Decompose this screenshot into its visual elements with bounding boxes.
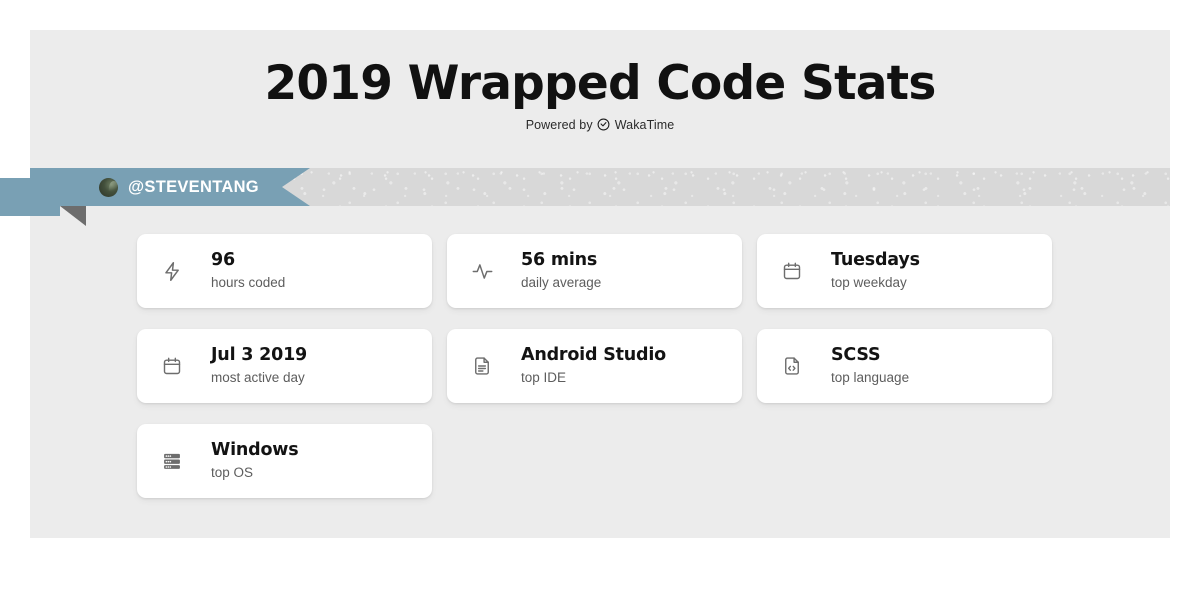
ribbon-banner: @STEVENTANG bbox=[30, 168, 310, 206]
document-lines-icon bbox=[471, 355, 493, 377]
lightning-bolt-icon bbox=[161, 260, 183, 282]
stat-value: 96 bbox=[211, 250, 285, 272]
stat-card[interactable]: SCSS top language bbox=[757, 329, 1052, 403]
stat-value: 56 mins bbox=[521, 250, 601, 272]
powered-by-line: Powered by WakaTime bbox=[30, 118, 1170, 131]
content-panel: 2019 Wrapped Code Stats Powered by WakaT… bbox=[30, 30, 1170, 538]
stat-label: top weekday bbox=[831, 275, 920, 291]
ribbon-fold-shadow bbox=[60, 206, 86, 226]
stat-value: SCSS bbox=[831, 345, 909, 367]
powered-by-label: Powered by bbox=[526, 119, 593, 132]
stat-value: Jul 3 2019 bbox=[211, 345, 307, 367]
user-avatar bbox=[99, 178, 118, 197]
stat-card[interactable]: Windows top OS bbox=[137, 424, 432, 498]
stat-label: top language bbox=[831, 370, 909, 386]
code-file-icon bbox=[781, 355, 803, 377]
stat-card[interactable]: Android Studio top IDE bbox=[447, 329, 742, 403]
server-stack-icon bbox=[161, 450, 183, 472]
calendar-icon bbox=[161, 355, 183, 377]
calendar-icon bbox=[781, 260, 803, 282]
stat-value: Android Studio bbox=[521, 345, 666, 367]
page-header: 2019 Wrapped Code Stats Powered by WakaT… bbox=[30, 30, 1170, 131]
pulse-activity-icon bbox=[471, 260, 493, 282]
wakatime-check-circle-icon bbox=[597, 118, 610, 131]
stat-label: daily average bbox=[521, 275, 601, 291]
stat-label: hours coded bbox=[211, 275, 285, 291]
stats-grid: 96 hours coded 56 mins daily average bbox=[137, 234, 1062, 498]
wrapped-stats-page: 2019 Wrapped Code Stats Powered by WakaT… bbox=[0, 0, 1200, 600]
stat-card[interactable]: 96 hours coded bbox=[137, 234, 432, 308]
stat-value: Windows bbox=[211, 440, 299, 462]
stat-label: most active day bbox=[211, 370, 307, 386]
stat-value: Tuesdays bbox=[831, 250, 920, 272]
user-handle: @STEVENTANG bbox=[128, 178, 259, 197]
stat-card[interactable]: Tuesdays top weekday bbox=[757, 234, 1052, 308]
stat-card[interactable]: 56 mins daily average bbox=[447, 234, 742, 308]
page-title: 2019 Wrapped Code Stats bbox=[30, 56, 1170, 111]
stat-label: top OS bbox=[211, 465, 299, 481]
wakatime-brand-label: WakaTime bbox=[615, 119, 675, 132]
stat-card[interactable]: Jul 3 2019 most active day bbox=[137, 329, 432, 403]
stat-label: top IDE bbox=[521, 370, 666, 386]
